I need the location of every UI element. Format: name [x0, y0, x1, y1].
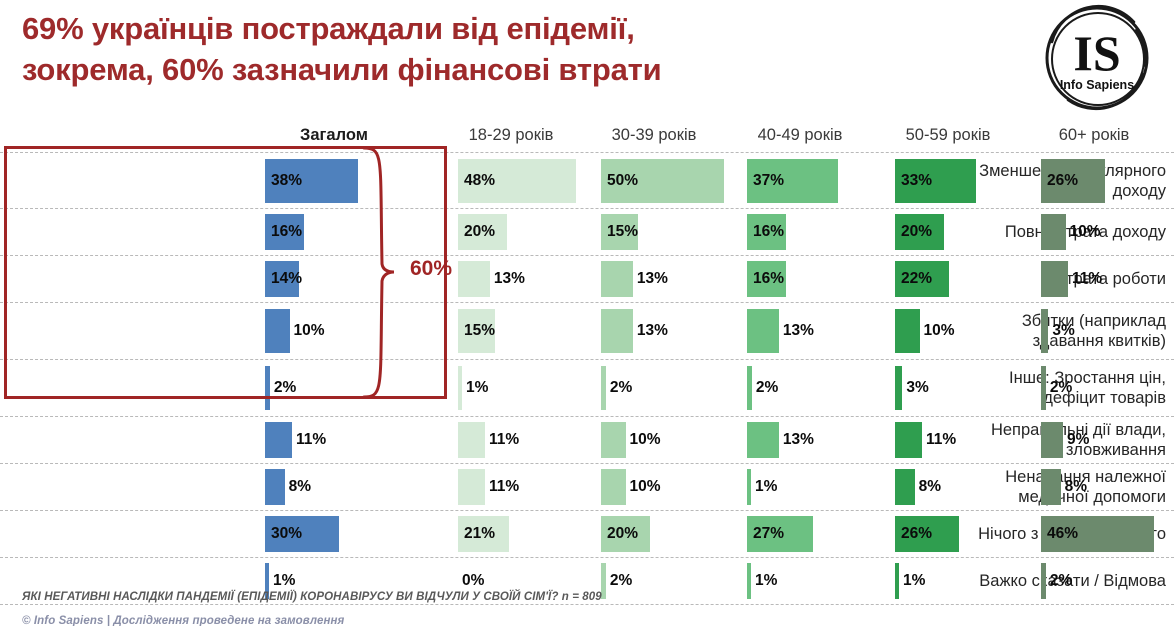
source-footnote: © Info Sapiens | Дослідження проведене н… [22, 615, 344, 626]
bar-cell-a60p: 9% [1041, 417, 1174, 463]
bar: 8% [265, 469, 285, 505]
bar: 1% [895, 563, 899, 599]
bar-value-label: 48% [464, 172, 495, 190]
bar-value-label: 20% [607, 525, 638, 543]
bar-value-label: 11% [926, 431, 956, 449]
bar-value-label: 3% [906, 379, 928, 397]
chart-rows: Зменшення регулярногодоходу38%48%50%37%3… [0, 152, 1174, 605]
bar-cell-total: 30% [265, 511, 445, 557]
bar-cell-a18_29: 11% [458, 417, 606, 463]
bar: 16% [747, 214, 786, 250]
bar-value-label: 13% [637, 270, 668, 288]
bar-cell-a50_59: 1% [895, 558, 1043, 604]
bar-cell-a50_59: 3% [895, 360, 1043, 416]
bar-value-label: 46% [1047, 525, 1078, 543]
bar-cell-a30_39: 10% [601, 417, 749, 463]
bar: 3% [1041, 309, 1048, 353]
logo-monogram: IS [1073, 25, 1120, 81]
bar-cell-a30_39: 2% [601, 360, 749, 416]
bar-cell-a30_39: 50% [601, 153, 749, 208]
bar: 48% [458, 159, 576, 203]
bar-cell-a18_29: 21% [458, 511, 606, 557]
bar-value-label: 1% [903, 572, 925, 590]
bar: 8% [1041, 469, 1061, 505]
bar: 2% [265, 366, 270, 410]
financial-loss-total-label: 60% [410, 257, 452, 281]
bar-cell-total: 38% [265, 153, 445, 208]
bar-value-label: 22% [901, 270, 932, 288]
bar-value-label: 38% [271, 172, 302, 190]
bar-cell-total: 8% [265, 464, 445, 510]
bar: 10% [601, 469, 626, 505]
bar-value-label: 20% [464, 223, 495, 241]
column-header-a40_49: 40-49 років [741, 126, 859, 145]
table-row: Інше: Зростання цін,дефіцит товарів2%1%2… [0, 360, 1174, 417]
bar-value-label: 13% [637, 322, 668, 340]
bar-cell-a50_59: 22% [895, 256, 1043, 302]
bar-value-label: 26% [1047, 172, 1078, 190]
bar-value-label: 11% [296, 431, 326, 449]
bar: 20% [895, 214, 944, 250]
bar-value-label: 8% [289, 478, 311, 496]
bar: 11% [458, 469, 485, 505]
bar-value-label: 33% [901, 172, 932, 190]
bar: 26% [895, 516, 959, 552]
bar-value-label: 10% [630, 478, 661, 496]
bar-cell-a60p: 3% [1041, 303, 1174, 359]
table-row: Повна втрата доходу16%20%15%16%20%10% [0, 209, 1174, 256]
bar-value-label: 8% [1065, 478, 1087, 496]
bar-value-label: 13% [783, 322, 814, 340]
bar-value-label: 2% [1050, 572, 1072, 590]
bar: 33% [895, 159, 976, 203]
bar-cell-a40_49: 1% [747, 464, 895, 510]
bar: 11% [458, 422, 485, 458]
bar: 2% [1041, 563, 1046, 599]
bar: 2% [1041, 366, 1046, 410]
bar-cell-a50_59: 8% [895, 464, 1043, 510]
bar-cell-a50_59: 20% [895, 209, 1043, 255]
table-row: Збитки (наприкладздавання квитків)10%15%… [0, 303, 1174, 360]
bar-cell-total: 2% [265, 360, 445, 416]
bar-cell-total: 11% [265, 417, 445, 463]
bar: 13% [458, 261, 490, 297]
bar: 13% [601, 309, 633, 353]
bar-value-label: 1% [466, 379, 488, 397]
bar: 10% [1041, 214, 1066, 250]
bar: 13% [747, 422, 779, 458]
bar-cell-a50_59: 33% [895, 153, 1043, 208]
bar-value-label: 16% [271, 223, 302, 241]
bar-value-label: 13% [494, 270, 525, 288]
column-header-a60p: 60+ років [1035, 126, 1153, 145]
bar-cell-a18_29: 48% [458, 153, 606, 208]
bar-value-label: 30% [271, 525, 302, 543]
bar: 26% [1041, 159, 1105, 203]
bar: 13% [747, 309, 779, 353]
bar: 22% [895, 261, 949, 297]
bar-value-label: 2% [756, 379, 778, 397]
bar-cell-a40_49: 13% [747, 303, 895, 359]
bar-value-label: 1% [755, 572, 777, 590]
bar-cell-a30_39: 10% [601, 464, 749, 510]
bar-cell-a40_49: 1% [747, 558, 895, 604]
bar: 20% [601, 516, 650, 552]
column-header-total: Загалом [259, 126, 409, 145]
bar-cell-a30_39: 20% [601, 511, 749, 557]
bar-value-label: 15% [607, 223, 638, 241]
bar-cell-a30_39: 13% [601, 303, 749, 359]
bar: 16% [747, 261, 786, 297]
info-sapiens-circle-logo: IS Info Sapiens [1038, 4, 1156, 116]
bar-value-label: 50% [607, 172, 638, 190]
bar-value-label: 10% [924, 322, 955, 340]
bar: 20% [458, 214, 507, 250]
bar: 3% [895, 366, 902, 410]
bar-cell-a60p: 26% [1041, 153, 1174, 208]
bar-cell-a40_49: 37% [747, 153, 895, 208]
bar-cell-a30_39: 2% [601, 558, 749, 604]
bar-cell-total: 10% [265, 303, 445, 359]
bar-value-label: 13% [783, 431, 814, 449]
bar-cell-a18_29: 13% [458, 256, 606, 302]
bar-value-label: 8% [919, 478, 941, 496]
bar: 11% [265, 422, 292, 458]
bar-value-label: 11% [489, 431, 519, 449]
bar: 38% [265, 159, 358, 203]
bar-cell-a18_29: 20% [458, 209, 606, 255]
bar-cell-a30_39: 13% [601, 256, 749, 302]
bar-value-label: 2% [610, 379, 632, 397]
bar-cell-a60p: 10% [1041, 209, 1174, 255]
table-row: Втрата роботи14%13%13%16%22%11% [0, 256, 1174, 303]
bar: 37% [747, 159, 838, 203]
bar-cell-a50_59: 11% [895, 417, 1043, 463]
bar-value-label: 10% [1070, 223, 1101, 241]
table-row: Неправильні дії влади,зловживання11%11%1… [0, 417, 1174, 464]
bar-cell-a18_29: 1% [458, 360, 606, 416]
column-header-row: Загалом18-29 років30-39 років40-49 років… [0, 126, 1174, 152]
bar-value-label: 21% [464, 525, 495, 543]
bar-cell-a50_59: 10% [895, 303, 1043, 359]
bar: 1% [458, 366, 462, 410]
logo-wordmark: Info Sapiens [1060, 78, 1134, 92]
column-header-a50_59: 50-59 років [889, 126, 1007, 145]
bar: 9% [1041, 422, 1063, 458]
bar-cell-a30_39: 15% [601, 209, 749, 255]
bar-cell-total: 16% [265, 209, 445, 255]
bar-value-label: 1% [755, 478, 777, 496]
bar-value-label: 26% [901, 525, 932, 543]
bar: 50% [601, 159, 724, 203]
bar-value-label: 2% [274, 379, 296, 397]
bar: 11% [1041, 261, 1068, 297]
bar: 11% [895, 422, 922, 458]
bar-cell-a50_59: 26% [895, 511, 1043, 557]
bar-cell-a60p: 2% [1041, 558, 1174, 604]
page-title-line-1: 69% українців постраждали від епідемії, [22, 8, 962, 49]
bar: 15% [601, 214, 638, 250]
bar-value-label: 3% [1052, 322, 1074, 340]
bar: 10% [895, 309, 920, 353]
table-row: Зменшення регулярногодоходу38%48%50%37%3… [0, 152, 1174, 209]
bar-value-label: 27% [753, 525, 784, 543]
bar-value-label: 20% [901, 223, 932, 241]
brace-icon [362, 146, 408, 399]
bar-cell-a40_49: 13% [747, 417, 895, 463]
bar: 8% [895, 469, 915, 505]
bar-cell-a18_29: 11% [458, 464, 606, 510]
bar-cell-a60p: 2% [1041, 360, 1174, 416]
table-row: Ненадання належноїмедичної допомоги8%11%… [0, 464, 1174, 511]
bar: 10% [265, 309, 290, 353]
column-header-a30_39: 30-39 років [595, 126, 713, 145]
bar-value-label: 0% [462, 572, 484, 590]
survey-question-footnote: ЯКІ НЕГАТИВНІ НАСЛІДКИ ПАНДЕМІЇ (ЕПІДЕМІ… [22, 591, 602, 603]
bar-value-label: 16% [753, 270, 784, 288]
bar-value-label: 16% [753, 223, 784, 241]
bar: 2% [747, 366, 752, 410]
page-title-line-2: зокрема, 60% зазначили фінансові втрати [22, 49, 962, 90]
bar-value-label: 14% [271, 270, 302, 288]
table-row: Нічого з перерахованого30%21%20%27%26%46… [0, 511, 1174, 558]
bar-value-label: 11% [1072, 270, 1102, 288]
bar: 14% [265, 261, 299, 297]
column-header-a18_29: 18-29 років [452, 126, 570, 145]
bar: 27% [747, 516, 813, 552]
bar: 21% [458, 516, 509, 552]
bar: 16% [265, 214, 304, 250]
bar: 2% [601, 366, 606, 410]
bar: 10% [601, 422, 626, 458]
bar-value-label: 9% [1067, 431, 1089, 449]
bar-cell-a60p: 11% [1041, 256, 1174, 302]
bar: 1% [747, 469, 751, 505]
bar-cell-a40_49: 16% [747, 209, 895, 255]
bar-cell-a40_49: 27% [747, 511, 895, 557]
bar: 15% [458, 309, 495, 353]
bar-cell-a40_49: 16% [747, 256, 895, 302]
bar: 30% [265, 516, 339, 552]
bar-value-label: 2% [610, 572, 632, 590]
bar-cell-a60p: 46% [1041, 511, 1174, 557]
bar: 1% [747, 563, 751, 599]
bar-cell-a18_29: 15% [458, 303, 606, 359]
bar-value-label: 1% [273, 572, 295, 590]
page-title: 69% українців постраждали від епідемії, … [22, 8, 962, 90]
bar-value-label: 11% [489, 478, 519, 496]
bar: 13% [601, 261, 633, 297]
bar-cell-a60p: 8% [1041, 464, 1174, 510]
age-breakdown-bar-table: Загалом18-29 років30-39 років40-49 років… [0, 126, 1174, 576]
bar: 46% [1041, 516, 1154, 552]
bar-value-label: 10% [294, 322, 325, 340]
bar-value-label: 10% [630, 431, 661, 449]
bar-value-label: 2% [1050, 379, 1072, 397]
bar-cell-a40_49: 2% [747, 360, 895, 416]
bar-value-label: 15% [464, 322, 495, 340]
bar-value-label: 37% [753, 172, 784, 190]
